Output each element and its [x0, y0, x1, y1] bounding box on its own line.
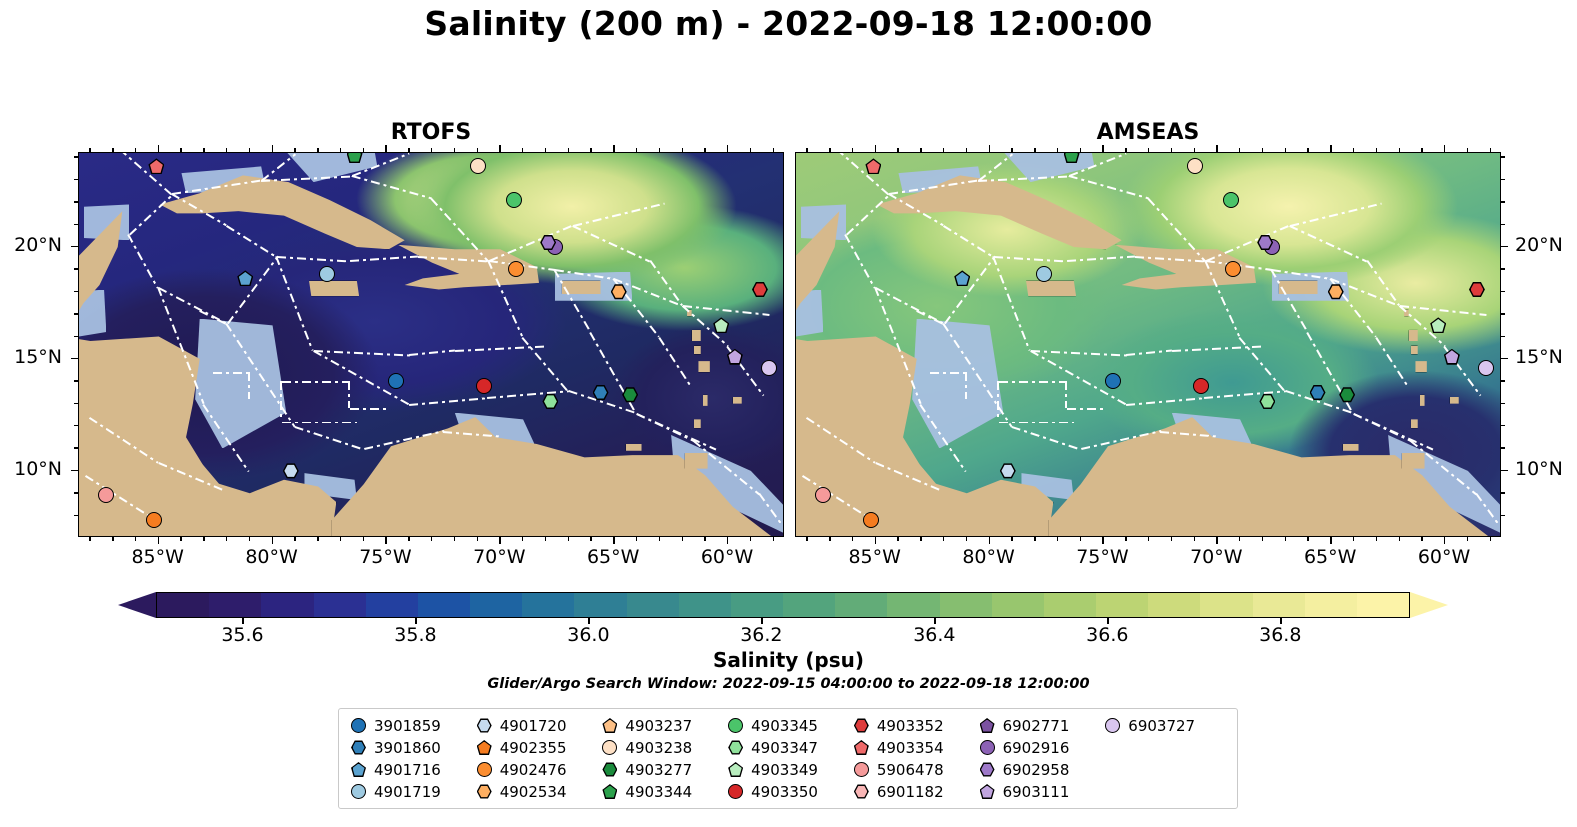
- x-minor-tick: [477, 537, 478, 541]
- x-minor-tick: [704, 148, 705, 152]
- marker-fill: [612, 285, 625, 298]
- argo-marker-3901859[interactable]: [388, 373, 404, 389]
- argo-marker-4901720[interactable]: [283, 463, 299, 479]
- x-minor-tick: [545, 148, 546, 152]
- x-minor-tick: [659, 537, 660, 541]
- marker-fill: [715, 319, 728, 332]
- x-minor-tick: [1148, 148, 1149, 152]
- x-minor-tick: [340, 537, 341, 541]
- x-minor-tick: [340, 148, 341, 152]
- x-minor-tick: [1285, 537, 1286, 541]
- y-tick: [71, 246, 78, 247]
- x-minor-tick: [1353, 537, 1354, 541]
- legend-item-4902534[interactable]: 4902534: [477, 782, 599, 801]
- y-minor-tick: [74, 224, 78, 225]
- argo-marker-4902534[interactable]: [1328, 284, 1344, 300]
- y-minor-tick: [1501, 268, 1505, 269]
- y-minor-tick: [1501, 515, 1505, 516]
- legend-item-4901719[interactable]: 4901719: [351, 782, 473, 801]
- y-minor-tick: [74, 336, 78, 337]
- legend-marker-hex-icon: [477, 718, 492, 733]
- x-minor-tick: [920, 537, 921, 541]
- argo-marker-4903354[interactable]: [148, 158, 164, 174]
- x-minor-tick: [1399, 148, 1400, 152]
- legend-marker-pent-icon: [980, 784, 995, 799]
- legend-item-6902916[interactable]: 6902916: [980, 738, 1102, 757]
- x-ticklabel: 65°W: [587, 546, 639, 568]
- colorbar-band-22: [1305, 593, 1357, 617]
- argo-marker-3901860[interactable]: [593, 385, 609, 401]
- colorbar-ticklabel: 36.6: [1086, 624, 1128, 646]
- x-tick: [613, 537, 614, 544]
- y-minor-tick: [74, 179, 78, 180]
- y-tick: [71, 358, 78, 359]
- argo-marker-4903238[interactable]: [470, 158, 486, 174]
- map-panel-rtofs[interactable]: [78, 152, 784, 537]
- search-window-caption: Glider/Argo Search Window: 2022-09-15 04…: [0, 676, 1577, 692]
- argo-marker-6903727[interactable]: [761, 360, 777, 376]
- x-minor-tick: [249, 537, 250, 541]
- x-minor-tick: [806, 537, 807, 541]
- y-tick: [1501, 470, 1508, 471]
- marker-fill: [284, 464, 297, 477]
- legend-marker-hex-icon: [602, 762, 617, 777]
- legend-item-6903727[interactable]: 6903727: [1105, 716, 1227, 735]
- legend-label: 4903349: [751, 761, 818, 779]
- x-minor-tick: [477, 148, 478, 152]
- x-minor-tick: [180, 148, 181, 152]
- legend-marker-circle-icon: [1105, 718, 1120, 733]
- legend-item-4901720[interactable]: 4901720: [477, 716, 599, 735]
- x-minor-tick: [1490, 537, 1491, 541]
- colorbar-ticklabel: 35.6: [221, 624, 263, 646]
- legend-item-4901716[interactable]: 4901716: [351, 760, 473, 779]
- x-tick: [1444, 537, 1445, 544]
- x-minor-tick: [568, 148, 569, 152]
- legend-marker-pent-icon: [602, 784, 617, 799]
- marker-layer-amseas: [796, 153, 1500, 536]
- legend-label: 4903345: [751, 717, 818, 735]
- legend-marker-circle-icon: [854, 762, 869, 777]
- legend-marker-pent-icon: [477, 740, 492, 755]
- argo-marker-4903344[interactable]: [347, 152, 363, 163]
- x-minor-tick: [1171, 537, 1172, 541]
- legend-item-4903345[interactable]: 4903345: [728, 716, 850, 735]
- y-minor-tick: [74, 515, 78, 516]
- x-tick: [272, 537, 273, 544]
- colorbar-band-13: [835, 593, 887, 617]
- colorbar-gradient: [156, 592, 1410, 618]
- marker-fill: [594, 386, 607, 399]
- x-tick: [385, 537, 386, 544]
- argo-marker-4901720[interactable]: [1000, 463, 1016, 479]
- x-minor-tick: [135, 537, 136, 541]
- legend-item-4903238[interactable]: 4903238: [602, 738, 724, 757]
- y-tick: [1501, 246, 1508, 247]
- argo-marker-5906478[interactable]: [815, 487, 831, 503]
- marker-fill: [1261, 395, 1274, 408]
- argo-marker-4902355[interactable]: [863, 512, 879, 528]
- legend-label: 4903347: [751, 739, 818, 757]
- argo-marker-4903238[interactable]: [1187, 158, 1203, 174]
- legend-item-4903352[interactable]: 4903352: [854, 716, 976, 735]
- x-minor-tick: [1057, 537, 1058, 541]
- legend-marker-circle-icon: [351, 718, 366, 733]
- colorbar-band-20: [1200, 593, 1252, 617]
- y-minor-tick: [1501, 380, 1505, 381]
- x-tick: [989, 537, 990, 544]
- legend-item-5906478[interactable]: 5906478: [854, 760, 976, 779]
- x-minor-tick: [112, 148, 113, 152]
- x-minor-tick: [317, 148, 318, 152]
- argo-marker-4903350[interactable]: [476, 378, 492, 394]
- colorbar-band-2: [261, 593, 313, 617]
- legend-item-4902355[interactable]: 4902355: [477, 738, 599, 757]
- colorbar-band-23: [1357, 593, 1409, 617]
- x-ticklabel: 80°W: [245, 546, 297, 568]
- argo-marker-4901719[interactable]: [319, 266, 335, 282]
- marker-fill: [1471, 283, 1484, 296]
- argo-marker-4901716[interactable]: [237, 270, 253, 286]
- colorbar[interactable]: [118, 592, 1448, 618]
- x-minor-tick: [943, 148, 944, 152]
- legend-label: 6901182: [877, 783, 944, 801]
- argo-marker-4903349[interactable]: [1430, 317, 1446, 333]
- colorbar-band-0: [157, 593, 209, 617]
- legend-label: 4902476: [500, 761, 567, 779]
- x-minor-tick: [1239, 537, 1240, 541]
- y-minor-tick: [1501, 425, 1505, 426]
- legend-item-4903237[interactable]: 4903237: [602, 716, 724, 735]
- legend-marker-fill: [855, 720, 867, 732]
- x-tick: [1102, 145, 1103, 152]
- argo-marker-4903345[interactable]: [1223, 192, 1239, 208]
- y-minor-tick: [74, 268, 78, 269]
- legend-item-4903349[interactable]: 4903349: [728, 760, 850, 779]
- marker-layer-rtofs: [79, 153, 783, 536]
- legend-label: 4903352: [877, 717, 944, 735]
- argo-marker-4903352[interactable]: [1469, 282, 1485, 298]
- marker-fill: [1259, 236, 1272, 249]
- y-minor-tick: [1501, 156, 1505, 157]
- x-minor-tick: [408, 537, 409, 541]
- y-minor-tick: [74, 492, 78, 493]
- x-minor-tick: [829, 537, 830, 541]
- colorbar-ticklabel: 36.4: [913, 624, 955, 646]
- map-panel-amseas[interactable]: [795, 152, 1501, 537]
- colorbar-band-3: [314, 593, 366, 617]
- y-minor-tick: [1501, 179, 1505, 180]
- colorbar-ticklabel: 36.0: [567, 624, 609, 646]
- legend-marker-pent-icon: [728, 762, 743, 777]
- legend-label: 4901716: [374, 761, 441, 779]
- x-minor-tick: [1399, 537, 1400, 541]
- argo-marker-5906478[interactable]: [98, 487, 114, 503]
- colorbar-band-17: [1044, 593, 1096, 617]
- x-minor-tick: [636, 148, 637, 152]
- legend-label: 4903238: [625, 739, 692, 757]
- legend-label: 5906478: [877, 761, 944, 779]
- legend-marker-fill: [604, 786, 616, 798]
- colorbar-band-15: [940, 593, 992, 617]
- x-minor-tick: [568, 537, 569, 541]
- x-minor-tick: [1057, 148, 1058, 152]
- x-tick: [613, 145, 614, 152]
- x-minor-tick: [806, 148, 807, 152]
- x-ticklabel: 60°W: [1418, 546, 1470, 568]
- y-ticklabel: 15°N: [1515, 346, 1563, 368]
- argo-marker-4903354[interactable]: [865, 158, 881, 174]
- legend-item-6902771[interactable]: 6902771: [980, 716, 1102, 735]
- argo-marker-4901716[interactable]: [954, 270, 970, 286]
- x-minor-tick: [852, 148, 853, 152]
- argo-marker-4903344[interactable]: [1064, 152, 1080, 163]
- y-ticklabel: 20°N: [1515, 234, 1563, 256]
- x-minor-tick: [590, 148, 591, 152]
- argo-marker-4902355[interactable]: [146, 512, 162, 528]
- marker-fill: [542, 236, 555, 249]
- x-minor-tick: [294, 148, 295, 152]
- x-minor-tick: [203, 148, 204, 152]
- argo-marker-4902534[interactable]: [611, 284, 627, 300]
- legend-label: 4901719: [374, 783, 441, 801]
- y-minor-tick: [1501, 447, 1505, 448]
- marker-fill: [1065, 152, 1078, 162]
- argo-marker-6903727[interactable]: [1478, 360, 1494, 376]
- y-minor-tick: [74, 156, 78, 157]
- x-minor-tick: [431, 148, 432, 152]
- legend-marker-fill: [353, 764, 365, 776]
- x-minor-tick: [1490, 148, 1491, 152]
- x-minor-tick: [1376, 537, 1377, 541]
- y-minor-tick: [1501, 492, 1505, 493]
- argo-marker-3901859[interactable]: [1105, 373, 1121, 389]
- x-minor-tick: [1467, 148, 1468, 152]
- legend-marker-pent-icon: [602, 718, 617, 733]
- legend-marker-fill: [981, 786, 993, 798]
- x-minor-tick: [1171, 148, 1172, 152]
- x-minor-tick: [1376, 148, 1377, 152]
- y-minor-tick: [74, 447, 78, 448]
- x-minor-tick: [1307, 537, 1308, 541]
- colorbar-band-12: [783, 593, 835, 617]
- x-ticklabel: 70°W: [1190, 546, 1242, 568]
- x-minor-tick: [1421, 537, 1422, 541]
- argo-marker-4903347[interactable]: [1259, 393, 1275, 409]
- colorbar-band-18: [1096, 593, 1148, 617]
- legend-marker-circle-icon: [351, 784, 366, 799]
- x-ticklabel: 75°W: [359, 546, 411, 568]
- legend-item-4903354[interactable]: 4903354: [854, 738, 976, 757]
- legend-marker-fill: [478, 786, 490, 798]
- x-minor-tick: [750, 537, 751, 541]
- colorbar-band-7: [522, 593, 574, 617]
- legend-item-4902476[interactable]: 4902476: [477, 760, 599, 779]
- legend-item-6903111[interactable]: 6903111: [980, 782, 1102, 801]
- x-minor-tick: [1194, 148, 1195, 152]
- y-minor-tick: [1501, 336, 1505, 337]
- legend-item-4903347[interactable]: 4903347: [728, 738, 850, 757]
- argo-marker-4901719[interactable]: [1036, 266, 1052, 282]
- x-minor-tick: [1421, 148, 1422, 152]
- x-minor-tick: [1125, 537, 1126, 541]
- x-minor-tick: [431, 537, 432, 541]
- x-minor-tick: [135, 148, 136, 152]
- x-ticklabel: 85°W: [131, 546, 183, 568]
- argo-marker-4903350[interactable]: [1193, 378, 1209, 394]
- argo-marker-4903277[interactable]: [622, 387, 638, 403]
- legend-marker-fill: [478, 720, 490, 732]
- legend-label: 6902916: [1003, 739, 1070, 757]
- marker-fill: [150, 160, 163, 173]
- x-minor-tick: [1353, 148, 1354, 152]
- argo-marker-3901860[interactable]: [1310, 385, 1326, 401]
- legend-item-6902958[interactable]: 6902958: [980, 760, 1102, 779]
- x-minor-tick: [1148, 537, 1149, 541]
- colorbar-band-5: [418, 593, 470, 617]
- marker-fill: [867, 160, 880, 173]
- x-minor-tick: [682, 148, 683, 152]
- colorbar-band-1: [209, 593, 261, 617]
- legend-label: 6903111: [1003, 783, 1070, 801]
- x-minor-tick: [408, 148, 409, 152]
- x-minor-tick: [750, 148, 751, 152]
- legend-marker-circle-icon: [602, 740, 617, 755]
- x-minor-tick: [454, 537, 455, 541]
- legend-item-6901182[interactable]: 6901182: [854, 782, 976, 801]
- colorbar-band-6: [470, 593, 522, 617]
- x-minor-tick: [897, 537, 898, 541]
- legend-marker-fill: [730, 764, 742, 776]
- panel-title-amseas: AMSEAS: [795, 120, 1501, 145]
- x-tick: [1102, 537, 1103, 544]
- legend-item-4903344[interactable]: 4903344: [602, 782, 724, 801]
- colorbar-band-16: [992, 593, 1044, 617]
- y-ticklabel: 20°N: [14, 234, 62, 256]
- argo-float-legend[interactable]: 3901859390186049017164901719490172049023…: [338, 708, 1238, 809]
- x-minor-tick: [317, 537, 318, 541]
- x-minor-tick: [203, 537, 204, 541]
- colorbar-label: Salinity (psu): [0, 648, 1577, 672]
- marker-fill: [624, 388, 637, 401]
- legend-label: 6902771: [1003, 717, 1070, 735]
- x-minor-tick: [1125, 148, 1126, 152]
- legend-label: 4901720: [500, 717, 567, 735]
- x-minor-tick: [852, 537, 853, 541]
- x-minor-tick: [545, 537, 546, 541]
- colorbar-band-10: [679, 593, 731, 617]
- legend-item-4903277[interactable]: 4903277: [602, 760, 724, 779]
- marker-fill: [544, 395, 557, 408]
- x-minor-tick: [363, 148, 364, 152]
- y-ticklabel: 10°N: [14, 458, 62, 480]
- x-minor-tick: [1011, 148, 1012, 152]
- legend-item-4903350[interactable]: 4903350: [728, 782, 850, 801]
- legend-marker-pent-icon: [854, 740, 869, 755]
- colorbar-ticklabel: 36.8: [1259, 624, 1301, 646]
- argo-marker-4903277[interactable]: [1339, 387, 1355, 403]
- argo-marker-6903111[interactable]: [1444, 349, 1460, 365]
- x-tick: [727, 145, 728, 152]
- colorbar-extend-max: [1410, 592, 1448, 618]
- x-minor-tick: [1011, 537, 1012, 541]
- legend-marker-fill: [981, 720, 993, 732]
- legend-label: 3901859: [374, 717, 441, 735]
- x-minor-tick: [112, 537, 113, 541]
- argo-marker-4902476[interactable]: [508, 261, 524, 277]
- y-minor-tick: [74, 380, 78, 381]
- argo-marker-4903349[interactable]: [713, 317, 729, 333]
- x-minor-tick: [773, 148, 774, 152]
- x-ticklabel: 70°W: [473, 546, 525, 568]
- legend-label: 6902958: [1003, 761, 1070, 779]
- x-minor-tick: [1262, 148, 1263, 152]
- x-minor-tick: [1239, 148, 1240, 152]
- x-minor-tick: [1467, 537, 1468, 541]
- x-tick: [875, 537, 876, 544]
- x-minor-tick: [966, 537, 967, 541]
- legend-marker-circle-icon: [728, 784, 743, 799]
- panel-title-rtofs: RTOFS: [78, 120, 784, 145]
- x-tick: [989, 145, 990, 152]
- argo-marker-6903111[interactable]: [727, 349, 743, 365]
- marker-fill: [1341, 388, 1354, 401]
- legend-marker-fill: [604, 720, 616, 732]
- legend-marker-circle-icon: [728, 718, 743, 733]
- legend-item-3901859[interactable]: 3901859: [351, 716, 473, 735]
- legend-marker-hex-icon: [854, 718, 869, 733]
- x-minor-tick: [682, 537, 683, 541]
- x-minor-tick: [89, 537, 90, 541]
- colorbar-band-4: [366, 593, 418, 617]
- x-minor-tick: [636, 537, 637, 541]
- x-minor-tick: [590, 537, 591, 541]
- legend-marker-fill: [981, 764, 993, 776]
- legend-item-3901860[interactable]: 3901860: [351, 738, 473, 757]
- legend-label: 4903237: [625, 717, 692, 735]
- legend-marker-hex-icon: [980, 762, 995, 777]
- x-minor-tick: [1034, 537, 1035, 541]
- marker-fill: [348, 152, 361, 162]
- x-tick: [875, 145, 876, 152]
- y-minor-tick: [1501, 291, 1505, 292]
- marker-fill: [1445, 350, 1458, 363]
- argo-marker-4903345[interactable]: [506, 192, 522, 208]
- x-minor-tick: [1285, 148, 1286, 152]
- legend-label: 6903727: [1128, 717, 1195, 735]
- legend-label: 4903344: [625, 783, 692, 801]
- y-minor-tick: [74, 425, 78, 426]
- y-minor-tick: [1501, 403, 1505, 404]
- y-minor-tick: [1501, 224, 1505, 225]
- x-minor-tick: [454, 148, 455, 152]
- argo-marker-4903347[interactable]: [542, 393, 558, 409]
- x-tick: [385, 145, 386, 152]
- colorbar-band-11: [731, 593, 783, 617]
- x-minor-tick: [249, 148, 250, 152]
- y-tick: [1501, 358, 1508, 359]
- argo-marker-4903352[interactable]: [752, 282, 768, 298]
- marker-fill: [239, 272, 252, 285]
- y-minor-tick: [74, 291, 78, 292]
- y-minor-tick: [74, 403, 78, 404]
- x-minor-tick: [659, 148, 660, 152]
- y-ticklabel: 15°N: [14, 346, 62, 368]
- x-minor-tick: [1262, 537, 1263, 541]
- y-minor-tick: [74, 201, 78, 202]
- x-ticklabel: 80°W: [962, 546, 1014, 568]
- argo-marker-4902476[interactable]: [1225, 261, 1241, 277]
